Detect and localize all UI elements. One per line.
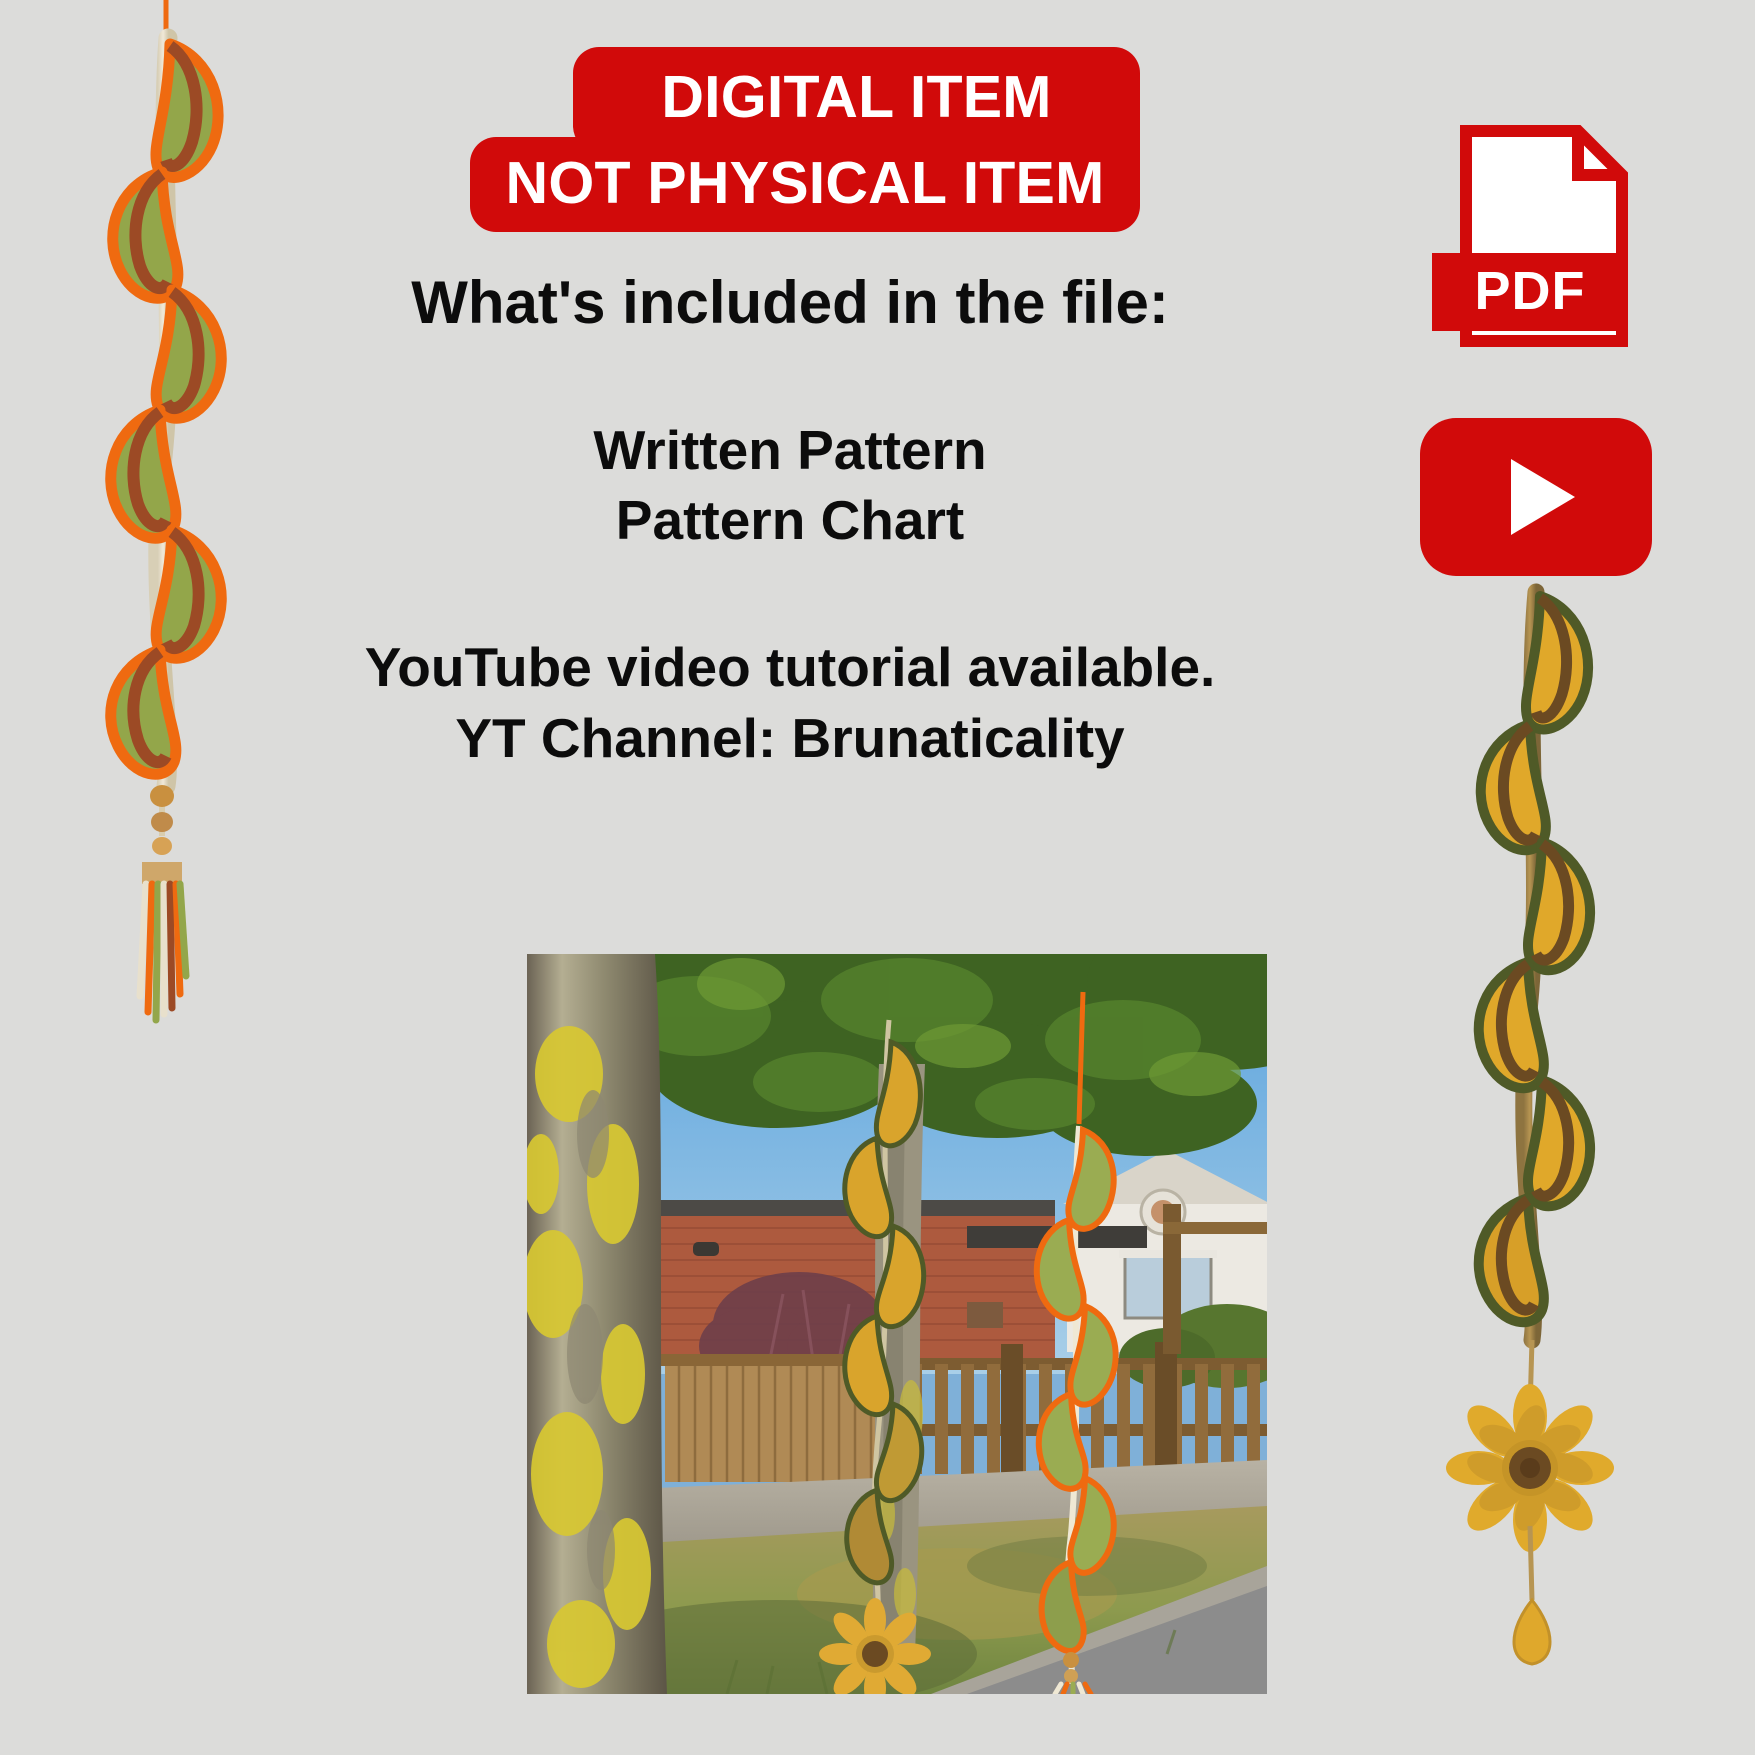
play-triangle-icon [1511, 459, 1575, 535]
spacer-after-heading [230, 337, 1350, 415]
included-item-pattern-chart: Pattern Chart [230, 485, 1350, 555]
whats-included-heading: What's included in the file: [230, 268, 1350, 337]
teardrop-charm [1514, 1600, 1550, 1664]
included-item-written-pattern: Written Pattern [230, 415, 1350, 485]
page-canvas: DIGITAL ITEM NOT PHYSICAL ITEM PDF What'… [0, 0, 1755, 1755]
product-photo [527, 954, 1267, 1694]
tutorial-available-line: YouTube video tutorial available. [230, 632, 1350, 704]
digital-item-banner: DIGITAL ITEM NOT PHYSICAL ITEM [470, 47, 1140, 232]
spacer-before-cta [230, 556, 1350, 632]
pdf-label: PDF [1475, 264, 1586, 321]
banner-line-2: NOT PHYSICAL ITEM [470, 137, 1140, 232]
youtube-channel-line: YT Channel: Brunaticality [230, 703, 1350, 775]
youtube-play-icon[interactable] [1420, 418, 1652, 576]
content-text-block: What's included in the file: Written Pat… [230, 268, 1350, 775]
sunflower-spiral-wind-spinner [1440, 580, 1640, 1680]
pdf-label-band: PDF [1432, 253, 1628, 331]
pdf-file-icon: PDF [1432, 125, 1628, 359]
